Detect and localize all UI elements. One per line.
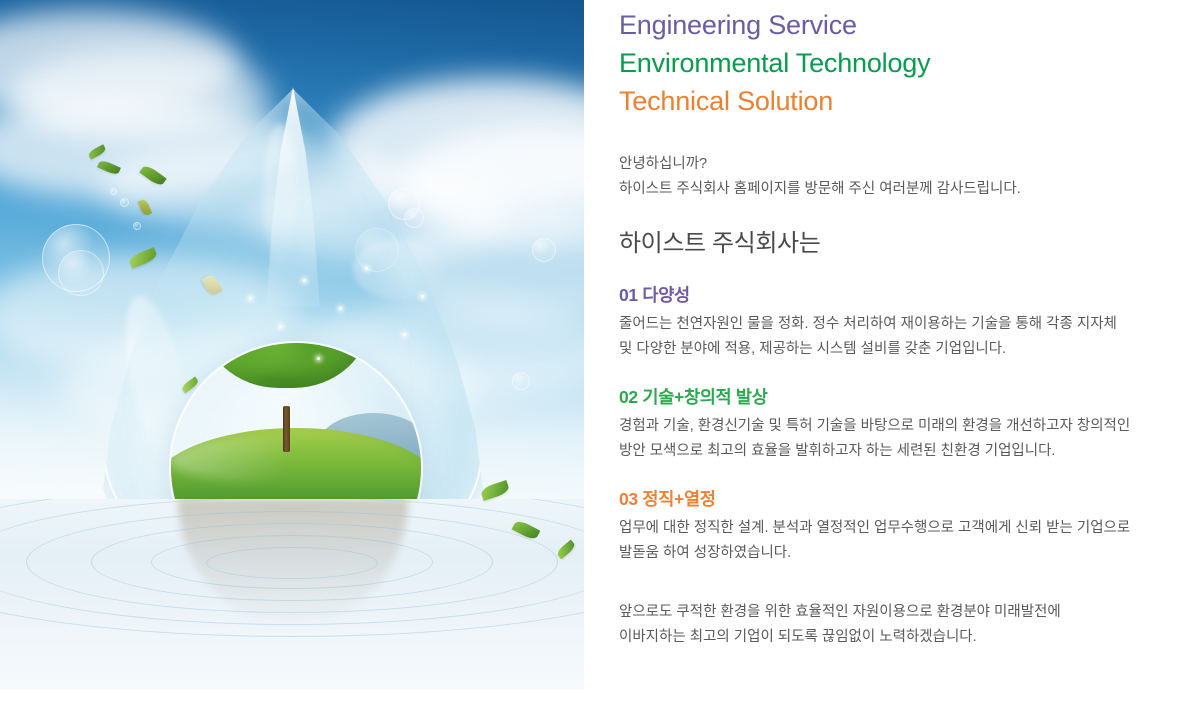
closing-line-1: 앞으로도 쿠적한 환경을 위한 효율적인 자원이용으로 환경분야 미래발전에 <box>619 600 1179 625</box>
sparkle-icon <box>249 297 252 300</box>
closing-line-2: 이바지하는 최고의 기업이 되도록 끊임없이 노력하겠습니다. <box>619 625 1179 650</box>
water-surface <box>0 499 584 689</box>
page-root: Engineering Service Environmental Techno… <box>0 0 1198 715</box>
bubble-icon <box>58 250 104 296</box>
section-body-01: 줄어드는 천연자원인 물을 정화. 정수 처리하여 재이용하는 기술을 통해 각… <box>619 312 1179 362</box>
section-body-03-line-1: 업무에 대한 정직한 설계. 분석과 열정적인 업무수행으로 고객에게 신뢰 받… <box>619 516 1179 541</box>
tagline: Engineering Service Environmental Techno… <box>619 0 1179 120</box>
section-body-03: 업무에 대한 정직한 설계. 분석과 열정적인 업무수행으로 고객에게 신뢰 받… <box>619 516 1179 566</box>
company-title: 하이스트 주식회사는 <box>619 202 1179 260</box>
greeting-line-2: 하이스트 주식회사 홈페이지를 방문해 주신 여러분께 감사드립니다. <box>619 177 1179 202</box>
sparkle-icon <box>421 295 424 298</box>
tagline-line-environmental-technology: Environmental Technology <box>619 44 1179 82</box>
tagline-line-technical-solution: Technical Solution <box>619 82 1179 120</box>
section-honesty-passion: 03 정직+열정 업무에 대한 정직한 설계. 분석과 열정적인 업무수행으로 … <box>619 464 1179 566</box>
content-column: Engineering Service Environmental Techno… <box>619 0 1179 715</box>
bubble-icon <box>512 372 530 390</box>
sparkle-icon <box>317 357 320 360</box>
section-body-02: 경험과 기술, 환경신기술 및 특허 기술을 바탕으로 미래의 환경을 개선하고… <box>619 414 1179 464</box>
grass-sheen <box>169 437 342 481</box>
section-heading-03: 03 정직+열정 <box>619 487 1179 511</box>
section-body-01-line-1: 줄어드는 천연자원인 물을 정화. 정수 처리하여 재이용하는 기술을 통해 각… <box>619 312 1179 337</box>
section-heading-02: 02 기술+창의적 발상 <box>619 385 1179 409</box>
section-body-03-line-2: 발돋움 하여 성장하였습니다. <box>619 541 1179 566</box>
section-body-01-line-2: 및 다양한 분야에 적용, 제공하는 시스템 설비를 갖춘 기업입니다. <box>619 337 1179 362</box>
tree-canopy <box>201 341 371 388</box>
greeting-paragraph: 안녕하십니까? 하이스트 주식회사 홈페이지를 방문해 주신 여러분께 감사드립… <box>619 120 1179 202</box>
section-diversity: 01 다양성 줄어드는 천연자원인 물을 정화. 정수 처리하여 재이용하는 기… <box>619 260 1179 362</box>
hero-image <box>0 0 584 689</box>
leaf-icon <box>480 480 511 501</box>
bubble-icon <box>532 238 556 262</box>
sparkle-icon <box>279 325 282 328</box>
section-heading-01: 01 다양성 <box>619 283 1179 307</box>
sparkle-icon <box>339 307 342 310</box>
sparkle-icon <box>303 279 306 282</box>
ripple-ring <box>0 499 584 637</box>
section-technology-creativity: 02 기술+창의적 발상 경험과 기술, 환경신기술 및 특허 기술을 바탕으로… <box>619 362 1179 464</box>
sparkle-icon <box>403 333 406 336</box>
greeting-line-1: 안녕하십니까? <box>619 152 1179 177</box>
closing-paragraph: 앞으로도 쿠적한 환경을 위한 효율적인 자원이용으로 환경분야 미래발전에 이… <box>619 566 1179 650</box>
sparkle-icon <box>365 267 368 270</box>
tagline-line-engineering-service: Engineering Service <box>619 6 1179 44</box>
section-body-02-line-2: 방안 모색으로 최고의 효율을 발휘하고자 하는 세련된 친환경 기업입니다. <box>619 439 1179 464</box>
section-body-02-line-1: 경험과 기술, 환경신기술 및 특허 기술을 바탕으로 미래의 환경을 개선하고… <box>619 414 1179 439</box>
tree-trunk <box>283 406 290 452</box>
